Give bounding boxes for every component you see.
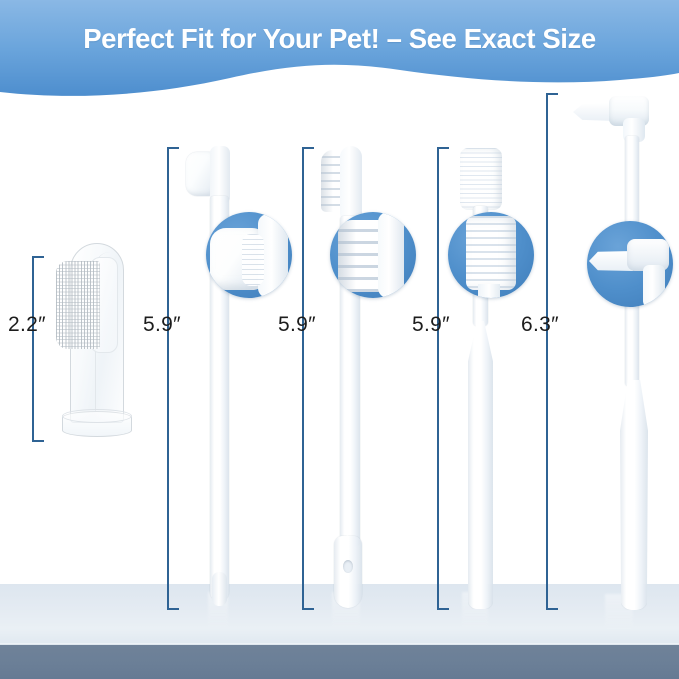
magnifier-angled-tapered-toothbrush [587, 221, 673, 307]
product-size-infographic: Perfect Fit for Your Pet! – See Exact Si… [0, 0, 679, 679]
product-angled-tapered-toothbrush [565, 90, 655, 610]
cylinder-brush-handle-shine [477, 346, 480, 596]
magnifier-content-angled [587, 221, 673, 307]
magnifier-content-silicone-head [206, 212, 292, 298]
magnifier-cylinder-silicone-toothbrush [448, 212, 534, 298]
size-label-angled-tapered-toothbrush: 6.3″ [521, 313, 559, 337]
size-label-silicone-head-toothbrush: 5.9″ [143, 313, 181, 337]
product-finger-toothbrush [56, 243, 138, 438]
magnifier-bristle-toothbrush [330, 212, 416, 298]
page-title: Perfect Fit for Your Pet! – See Exact Si… [0, 23, 679, 55]
size-label-bristle-toothbrush: 5.9″ [278, 313, 316, 337]
angled-brush-handle [620, 380, 648, 610]
silicone-brush-handle-tip [212, 572, 227, 606]
magnifier-silicone-head-toothbrush [206, 212, 292, 298]
size-label-cylinder-silicone-toothbrush: 5.9″ [412, 313, 450, 337]
magnifier-content-cylinder [448, 212, 534, 298]
cylinder-silicone-head [460, 148, 502, 210]
bristle-tufts-row-shadow [321, 150, 333, 212]
surface-edge [0, 645, 679, 679]
dimension-bracket-bristle-toothbrush [302, 147, 314, 610]
size-label-finger-toothbrush: 2.2″ [8, 313, 46, 337]
dimension-bracket-finger-toothbrush [32, 256, 44, 442]
cylinder-brush-handle [468, 321, 493, 609]
finger-cot-base-lip [62, 409, 132, 423]
angled-brush-handle-shine [630, 410, 633, 600]
dimension-bracket-silicone-head-toothbrush [167, 147, 179, 610]
magnifier-content-bristle [330, 212, 416, 298]
bristle-brush-hang-hole [343, 560, 353, 573]
finger-cot-bristles [56, 261, 100, 349]
dimension-bracket-angled-tapered-toothbrush [546, 93, 558, 610]
